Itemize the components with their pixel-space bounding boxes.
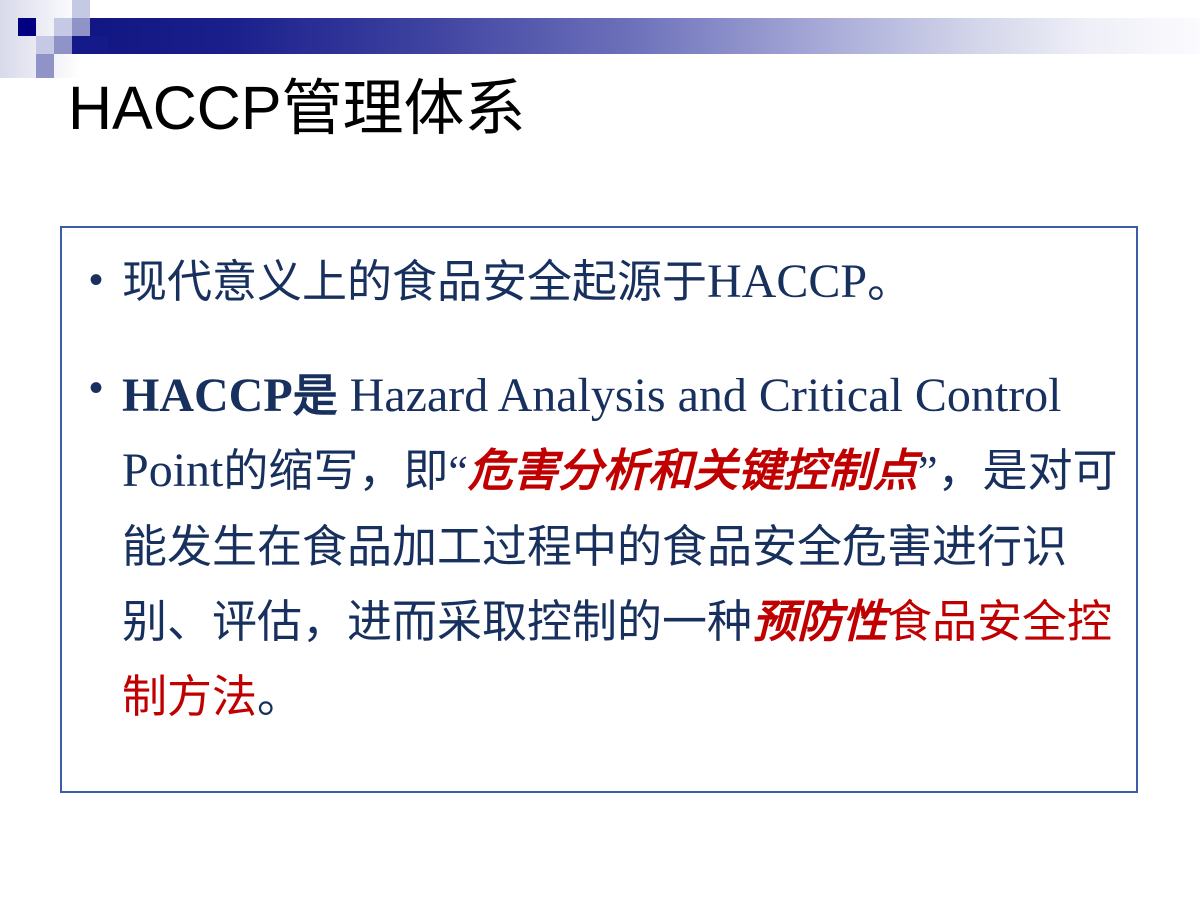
header-gradient-band — [72, 18, 1200, 54]
decor-square-deep-a — [72, 36, 108, 54]
run-def-abbrev: 的缩写，即 — [223, 445, 448, 496]
decor-square-mid-a — [72, 18, 90, 36]
list-item-origin: • 现代意义上的食品安全起源于HACCP。 — [70, 250, 1130, 314]
bullet-marker-icon-2: • — [70, 358, 122, 418]
slide-canvas: HACCP管理体系 • 现代意义上的食品安全起源于HACCP。 • HACCP是… — [0, 0, 1200, 900]
decor-square-mid-c — [36, 54, 54, 78]
bullet-list: • 现代意义上的食品安全起源于HACCP。 • HACCP是 Hazard An… — [70, 242, 1130, 734]
decor-square-light-b — [54, 18, 72, 36]
run-def-shi: 是 — [293, 370, 338, 421]
bullet-text-definition: HACCP是 Hazard Analysis and Critical Cont… — [122, 358, 1130, 734]
page-title: HACCP管理体系 — [68, 76, 1068, 142]
run-origin-period: 。 — [867, 256, 912, 307]
run-origin-cjk: 现代意义上的食品安全起源于 — [122, 256, 707, 307]
run-def-emphasis-preventive: 预防性 — [752, 596, 887, 647]
run-def-acronym: HACCP — [122, 369, 293, 422]
run-def-quote-open: “ — [448, 447, 468, 496]
run-def-period: 。 — [257, 671, 302, 722]
run-def-quote-close: ” — [918, 447, 938, 496]
decor-square-mid-b — [54, 36, 72, 54]
decor-square-light-a — [72, 0, 90, 18]
bullet-marker-icon: • — [70, 250, 122, 310]
decor-square-navy-a — [18, 18, 36, 36]
run-origin-acronym: HACCP — [707, 255, 867, 308]
content-box: • 现代意义上的食品安全起源于HACCP。 • HACCP是 Hazard An… — [60, 226, 1138, 793]
list-item-definition: • HACCP是 Hazard Analysis and Critical Co… — [70, 358, 1130, 734]
bullet-text-origin: 现代意义上的食品安全起源于HACCP。 — [122, 250, 1130, 314]
decor-square-light-c — [36, 36, 54, 54]
run-def-emphasis-term: 危害分析和关键控制点 — [468, 445, 918, 496]
